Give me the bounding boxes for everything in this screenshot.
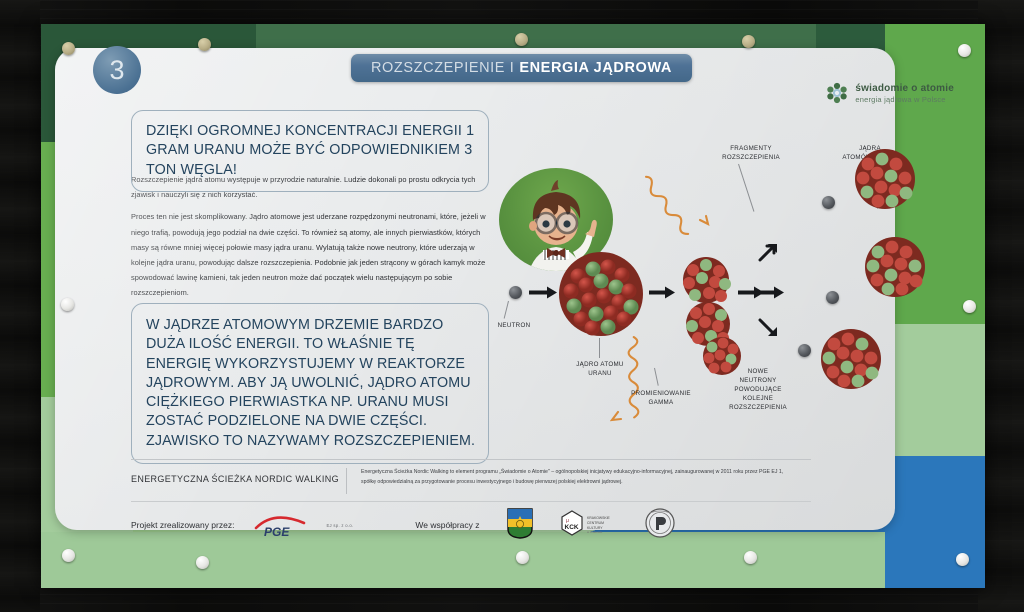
svg-text:KRAKOWSKIE: KRAKOWSKIE — [587, 516, 611, 520]
screw-cap-top-right — [958, 44, 971, 57]
brand-logo: świadomie o atomie energia jądrowa w Pol… — [826, 82, 954, 104]
uranium-nucleus-right-3 — [820, 328, 882, 390]
neutron-incoming — [509, 286, 522, 299]
leader-fission-fragments — [738, 164, 754, 212]
footer-vertical-divider — [346, 468, 347, 494]
callout-headline-top: DZIĘKI OGROMNEJ KONCENTRACJI ENERGII 1 G… — [131, 110, 489, 192]
footer-description-line-2: spółkę odpowiedzialną za przygotowanie p… — [361, 478, 831, 488]
realized-by-label: Projekt zrealizowany przez: — [131, 520, 234, 530]
leader-uranium-nucleus — [599, 338, 600, 358]
screw-cap-bottom-right2 — [744, 551, 757, 564]
svg-text:KCK: KCK — [564, 524, 578, 531]
footer-divider-bottom — [131, 501, 811, 502]
brand-tagline: energia jądrowa w Polsce — [855, 95, 954, 104]
kck-hex-icon: μ KCK KRAKOWSKIE CENTRUM KULTURY w Krako… — [560, 509, 618, 542]
pge-logo: PGE — [250, 512, 322, 538]
arrow-branch-up — [758, 238, 782, 267]
screw-cap-left-mid — [61, 298, 74, 311]
footer-description-line-1: Energetyczna Ścieżka Nordic Walking to e… — [361, 468, 831, 478]
leader-neutron — [504, 301, 509, 319]
title-prefix: ROZSZCZEPIENIE I — [371, 60, 514, 76]
pge-logo-subtext: EJ sp. z o.o. — [326, 523, 353, 528]
uranium-nucleus-right-2 — [864, 236, 926, 298]
screw-cap-top-right2 — [742, 35, 755, 48]
screw-cap-bottom-center — [516, 551, 529, 564]
title-main: ENERGIA JĄDROWA — [519, 60, 672, 76]
uranium-nucleus-large — [558, 251, 644, 337]
label-neutron: NEUTRON — [483, 322, 545, 331]
arrow-branch-mid — [758, 286, 784, 304]
park-circle-icon — [644, 507, 676, 544]
screw-cap-top-center — [515, 33, 528, 46]
brand-name: świadomie o atomie — [855, 83, 954, 94]
screw-cap-left-bottom — [62, 549, 75, 562]
title-banner: ROZSZCZEPIENIE I ENERGIA JĄDROWA — [351, 54, 692, 82]
arrow-1 — [529, 286, 557, 304]
label-gamma-radiation: PROMIENIOWANIE GAMMA — [615, 390, 707, 408]
neutron-right-3 — [798, 344, 811, 357]
footer-divider-top — [131, 459, 811, 460]
atom-flower-icon — [826, 82, 848, 104]
footer-row: ENERGETYCZNA ŚCIEŻKA NORDIC WALKING Ener… — [131, 468, 831, 494]
board-border-right-blue — [885, 456, 985, 588]
callout-headline-bottom: W JĄDRZE ATOMOWYM DRZEMIE BARDZO DUŻA IL… — [131, 303, 489, 464]
trail-name: ENERGETYCZNA ŚCIEŻKA NORDIC WALKING — [131, 468, 346, 484]
gamma-ray-upper — [634, 156, 716, 241]
uranium-nucleus-right-1 — [854, 148, 916, 210]
svg-text:PGE: PGE — [264, 525, 290, 538]
split-nucleus-top — [681, 256, 731, 304]
body-paragraph-2: Proces ten nie jest skomplikowany. Jądro… — [131, 209, 487, 300]
screw-cap-right-mid — [963, 300, 976, 313]
screw-cap-top-left — [62, 42, 75, 55]
svg-text:w Krakowie: w Krakowie — [587, 530, 603, 534]
label-new-neutrons: NOWE NEUTRONY POWODUJĄCE KOLEJNE ROZSZCZ… — [708, 368, 808, 413]
label-fission-fragments: FRAGMENTY ROZSZCZEPIENIA — [702, 145, 800, 163]
screw-cap-bottom-right — [956, 553, 969, 566]
fission-diagram: NEUTRON — [486, 96, 956, 441]
gmina-crest-icon — [506, 507, 534, 544]
panel-number-badge: 3 — [93, 46, 141, 94]
brand-text-group: świadomie o atomie energia jądrowa w Pol… — [855, 83, 954, 104]
neutron-right-1 — [822, 196, 835, 209]
screw-cap-bottom-left — [196, 556, 209, 569]
arrow-2 — [649, 286, 675, 304]
arrow-branch-down — [758, 318, 782, 347]
footer-description: Energetyczna Ścieżka Nordic Walking to e… — [361, 468, 831, 487]
neutron-right-2 — [826, 291, 839, 304]
partners-row: Projekt zrealizowany przez: PGE EJ sp. z… — [131, 508, 831, 542]
screw-cap-top-mid — [198, 38, 211, 51]
cooperation-label: We współpracy z — [415, 520, 479, 530]
svg-text:CENTRUM: CENTRUM — [587, 521, 604, 525]
